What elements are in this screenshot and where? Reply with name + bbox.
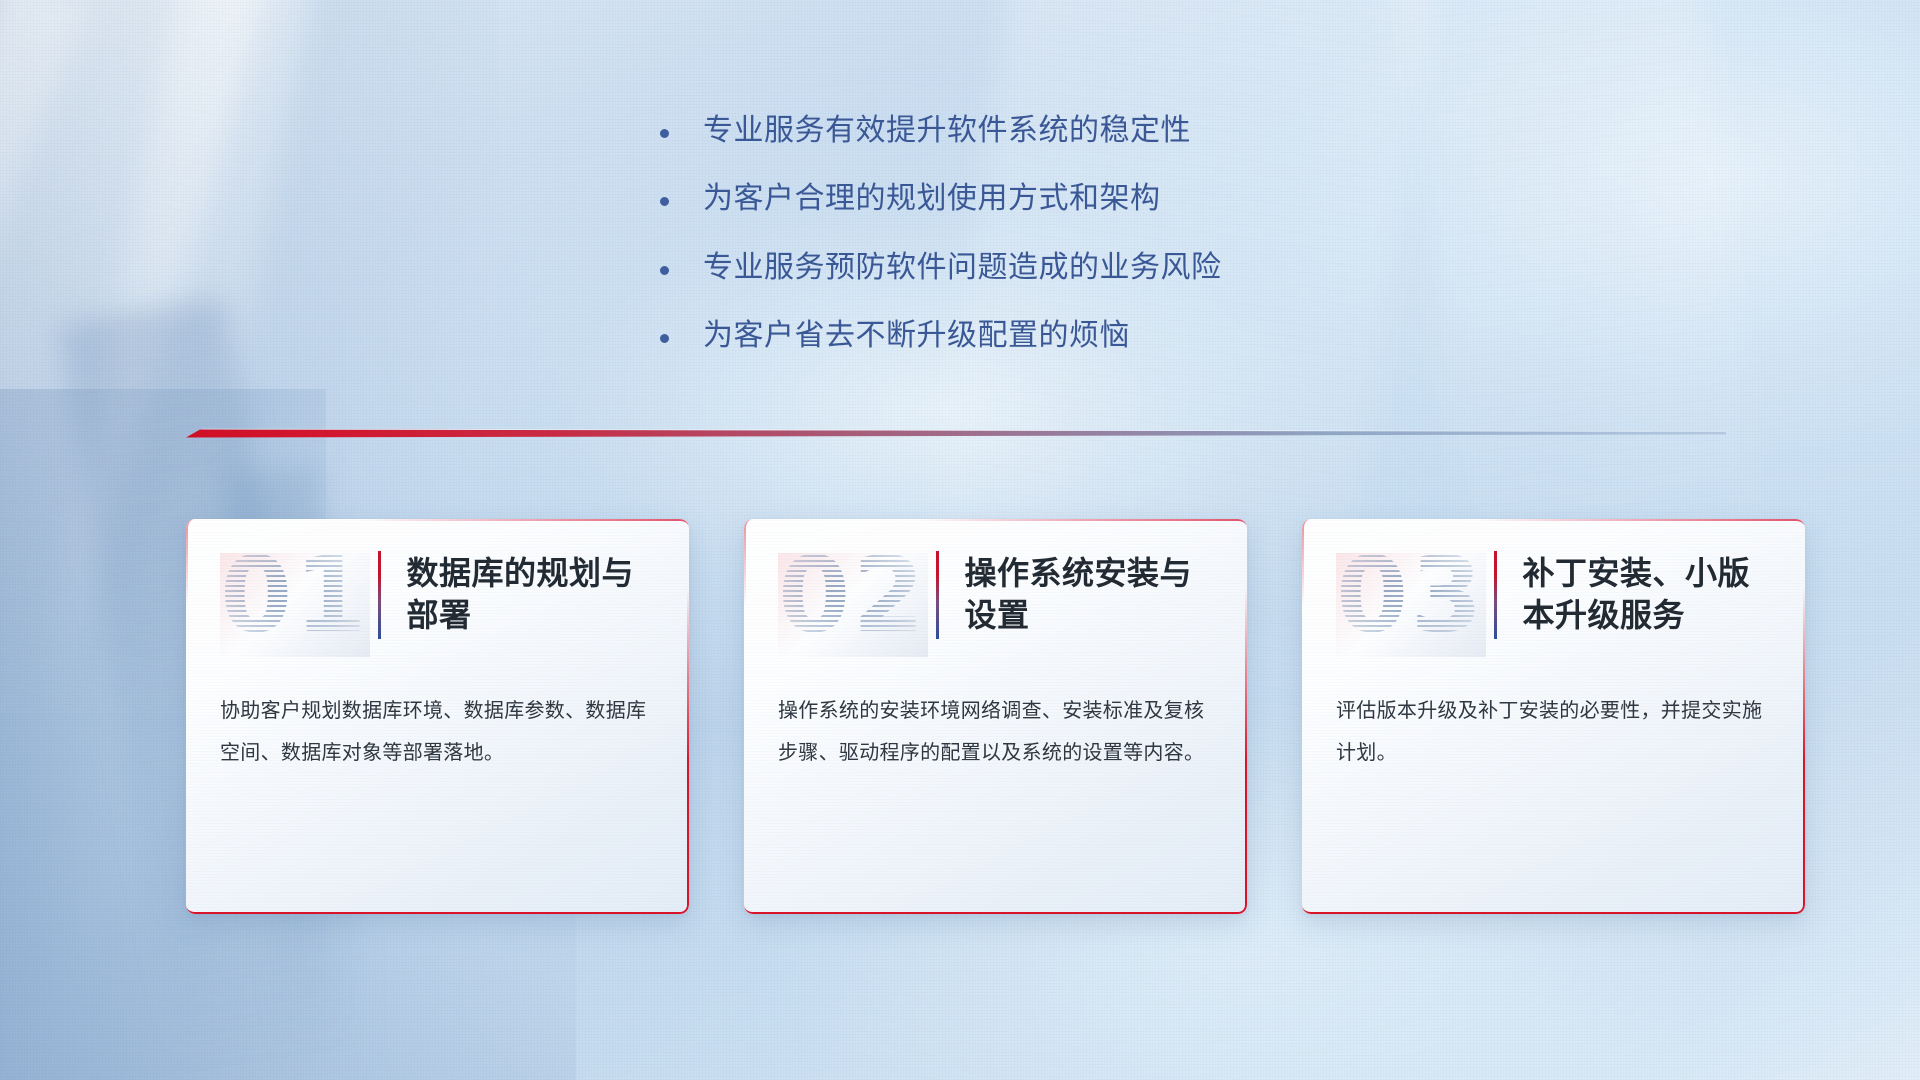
card-divider-rule <box>936 551 939 639</box>
card-body-text: 协助客户规划数据库环境、数据库参数、数据库空间、数据库对象等部署落地。 <box>186 691 689 774</box>
benefits-bullet-list: 专业服务有效提升软件系统的稳定性 为客户合理的规划使用方式和架构 专业服务预防软… <box>660 112 1420 386</box>
service-card[interactable]: 03 补丁安装、小版本升级服务 评估版本升级及补丁安装的必要性，并提交实施计划。 <box>1302 519 1805 914</box>
service-card[interactable]: 01 数据库的规划与部署 协助客户规划数据库环境、数据库参数、数据库空间、数据库… <box>186 519 689 914</box>
card-title: 补丁安装、小版本升级服务 <box>1523 553 1759 636</box>
bullet-text: 为客户合理的规划使用方式和架构 <box>703 180 1161 218</box>
list-item: 为客户省去不断升级配置的烦恼 <box>660 317 1420 355</box>
card-title: 操作系统安装与设置 <box>965 553 1201 636</box>
card-header: 03 补丁安装、小版本升级服务 <box>1302 519 1805 671</box>
card-number-watermark: 03 <box>1336 543 1486 647</box>
card-divider-rule <box>1494 551 1497 639</box>
card-title: 数据库的规划与部署 <box>407 553 643 636</box>
card-body-text: 操作系统的安装环境网络调查、安装标准及复核步骤、驱动程序的配置以及系统的设置等内… <box>744 691 1247 774</box>
bullet-dot-icon <box>660 197 669 206</box>
bullet-dot-icon <box>660 129 669 138</box>
bullet-dot-icon <box>660 334 669 343</box>
bullet-text: 为客户省去不断升级配置的烦恼 <box>703 317 1130 355</box>
card-header: 02 操作系统安装与设置 <box>744 519 1247 671</box>
list-item: 为客户合理的规划使用方式和架构 <box>660 180 1420 218</box>
tapered-divider-line <box>186 424 1726 440</box>
bullet-text: 专业服务有效提升软件系统的稳定性 <box>703 112 1191 150</box>
card-number-watermark: 01 <box>220 543 370 647</box>
card-divider-rule <box>378 551 381 639</box>
card-number-watermark: 02 <box>778 543 928 647</box>
card-body-text: 评估版本升级及补丁安装的必要性，并提交实施计划。 <box>1302 691 1805 774</box>
bullet-text: 专业服务预防软件问题造成的业务风险 <box>703 249 1222 287</box>
list-item: 专业服务预防软件问题造成的业务风险 <box>660 249 1420 287</box>
service-card[interactable]: 02 操作系统安装与设置 操作系统的安装环境网络调查、安装标准及复核步骤、驱动程… <box>744 519 1247 914</box>
list-item: 专业服务有效提升软件系统的稳定性 <box>660 112 1420 150</box>
card-header: 01 数据库的规划与部署 <box>186 519 689 671</box>
service-card-row: 01 数据库的规划与部署 协助客户规划数据库环境、数据库参数、数据库空间、数据库… <box>186 519 1806 919</box>
bullet-dot-icon <box>660 266 669 275</box>
